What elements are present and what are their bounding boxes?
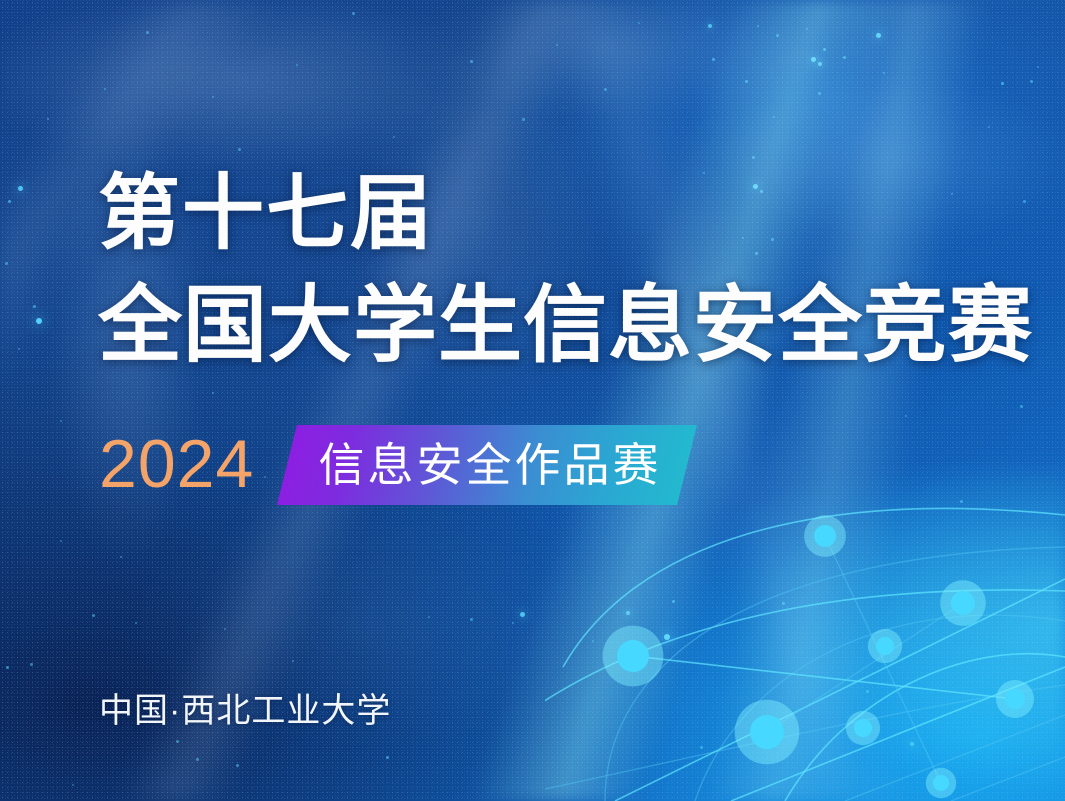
competition-poster: 第十七届 全国大学生信息安全竞赛 2024 信息安全作品赛 中国·西北工业大学 <box>0 0 1065 801</box>
poster-year: 2024 <box>99 430 254 498</box>
category-badge-label: 信息安全作品赛 <box>300 432 680 498</box>
poster-title-line-1: 第十七届 <box>98 173 434 255</box>
poster-content: 第十七届 全国大学生信息安全竞赛 2024 信息安全作品赛 中国·西北工业大学 <box>0 0 1065 801</box>
poster-venue: 中国·西北工业大学 <box>99 694 391 728</box>
poster-title-line-2: 全国大学生信息安全竞赛 <box>98 283 1033 367</box>
